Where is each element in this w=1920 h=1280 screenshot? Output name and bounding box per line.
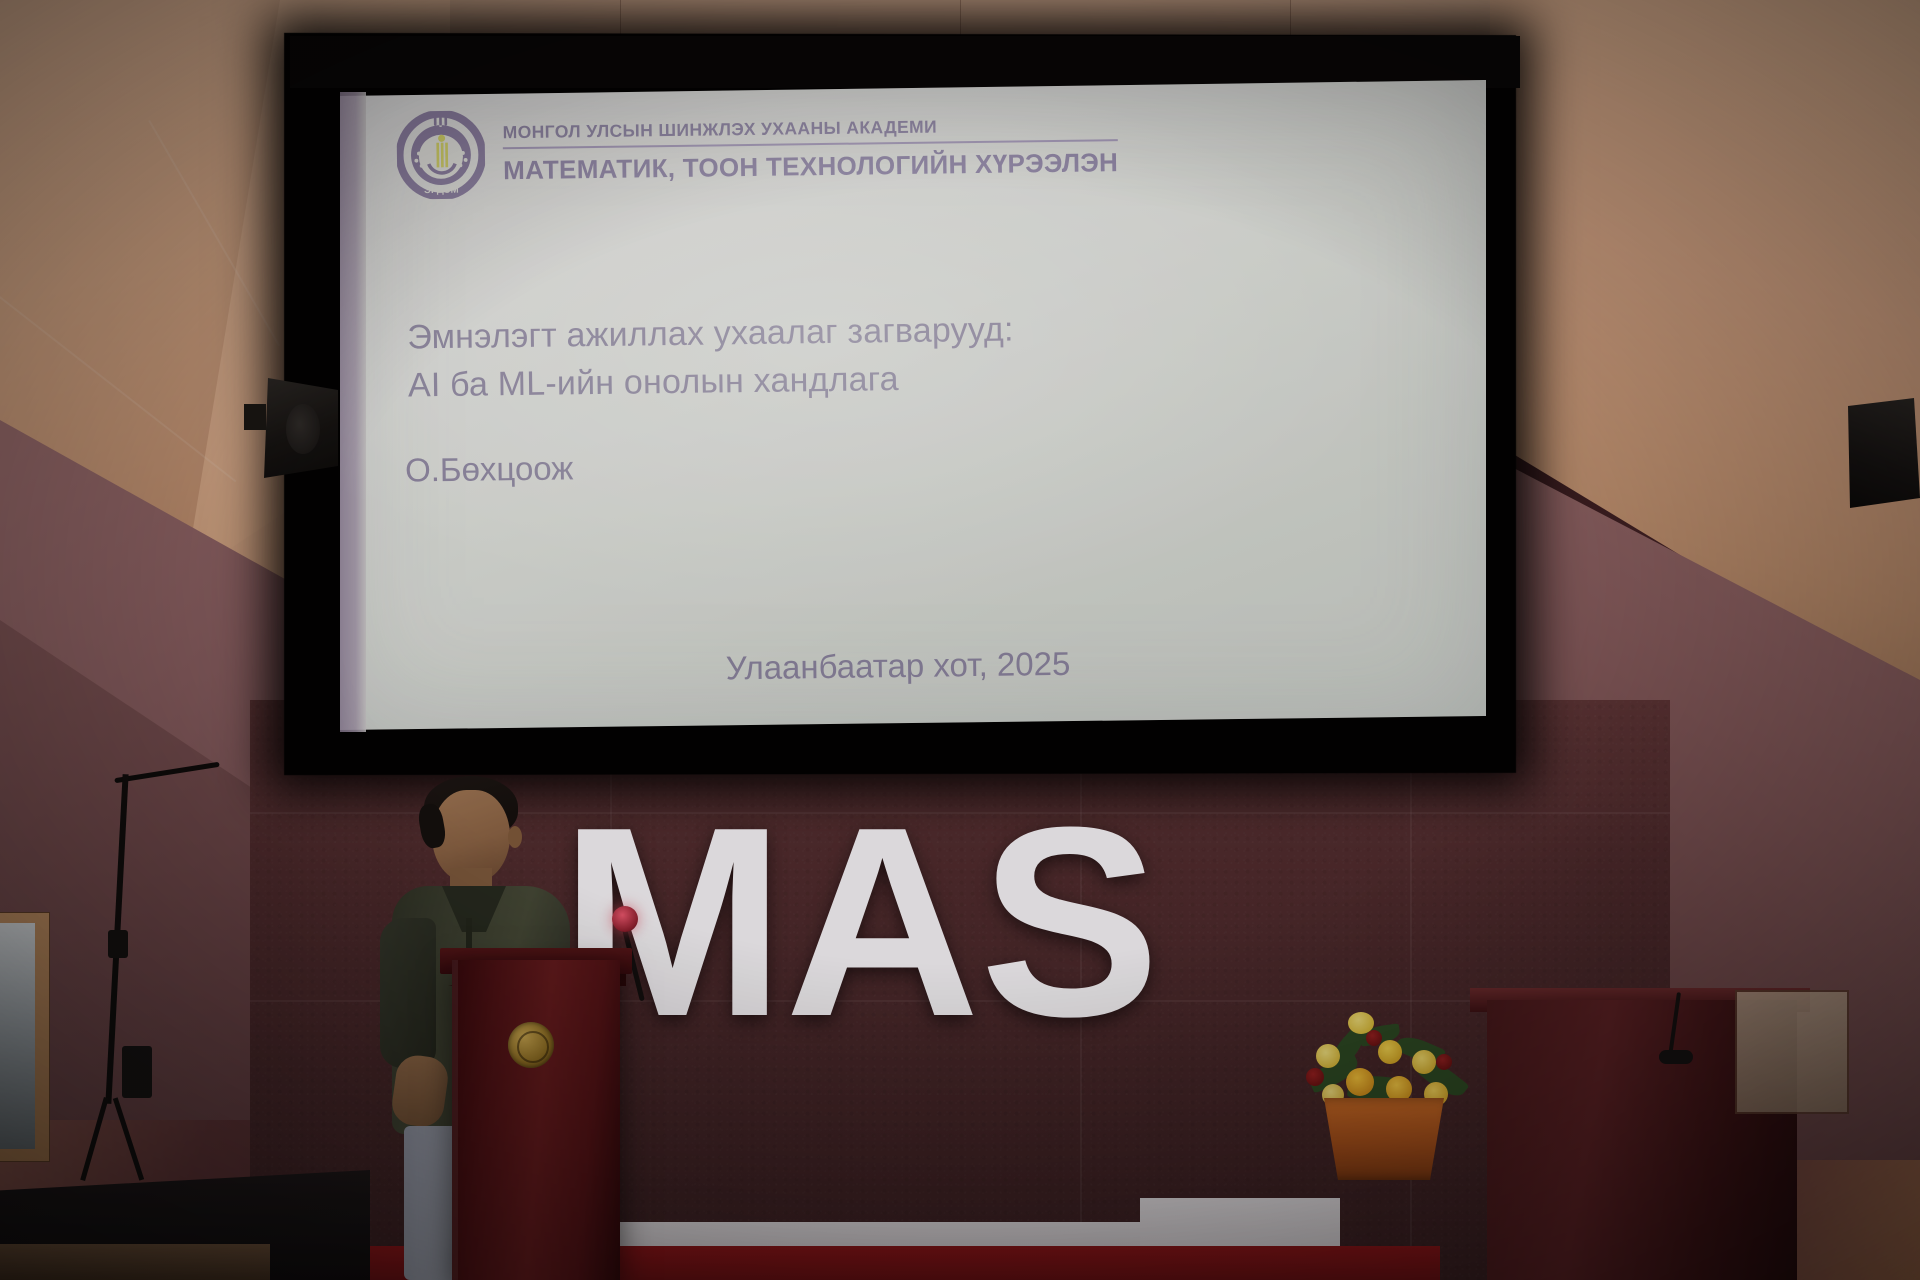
right-wall-speaker (1848, 398, 1920, 508)
presenter-ear (508, 826, 522, 848)
flower-basket (1318, 1098, 1450, 1180)
slide-title-block: Эмнэлэгт ажиллах ухаалаг загварууд: AI б… (407, 306, 1015, 410)
slide-title-line-1: Эмнэлэгт ажиллах ухаалаг загварууд: (407, 306, 1014, 362)
organization-name-line-1: МОНГОЛ УЛСЫН ШИНЖЛЭХ УХААНЫ АКАДЕМИ (503, 114, 1118, 149)
foreground-table-edge (0, 1244, 270, 1280)
svg-text:ЭРДЭМ: ЭРДЭМ (424, 185, 459, 196)
mas-letter-s: S (980, 818, 1154, 1029)
mas-signage: M A S (560, 818, 1154, 1029)
mic-stand-clamp (108, 930, 128, 958)
framed-artwork-image (0, 923, 35, 1149)
slide-title-line-2: AI ба ML-ийн онолын хандлага (408, 354, 1015, 410)
slide-footer-location-year: Улаанбаатар хот, 2025 (725, 645, 1070, 688)
slide-header: ЭРДЭМ МОНГОЛ УЛСЫН ШИНЖЛЭХ УХААНЫ АКАДЕМ… (396, 102, 1118, 199)
slide-author: О.Бөхцоож (405, 449, 574, 489)
podium-microphone-icon (612, 906, 638, 932)
organization-name-line-2: МАТЕМАТИК, ТООН ТЕХНОЛОГИЙН ХҮРЭЭЛЭН (503, 147, 1118, 186)
mas-letter-a: A (785, 818, 974, 1029)
framed-artwork (0, 912, 50, 1162)
podium-edge-highlight (452, 960, 458, 1280)
auditorium-scene: ЭРДЭМ МОНГОЛ УЛСЫН ШИНЖЛЭХ УХААНЫ АКАДЕМ… (0, 0, 1920, 1280)
presenter-sleeve (380, 918, 436, 1068)
left-speaker-cone-icon (286, 404, 320, 454)
podium-emblem-icon (508, 1022, 554, 1068)
wall-panel-right (1735, 990, 1849, 1114)
left-speaker-mount (244, 404, 266, 430)
mic-stand-control-box (122, 1046, 152, 1098)
mic-stand-leg (113, 1097, 144, 1180)
secondary-microphone-icon (1659, 1050, 1693, 1064)
podium (452, 960, 620, 1280)
presentation-slide: ЭРДЭМ МОНГОЛ УЛСЫН ШИНЖЛЭХ УХААНЫ АКАДЕМ… (366, 69, 1492, 728)
academy-emblem-icon: ЭРДЭМ (396, 110, 485, 199)
screen-left-edge-band (340, 92, 366, 732)
microphone-stand (96, 770, 216, 1180)
